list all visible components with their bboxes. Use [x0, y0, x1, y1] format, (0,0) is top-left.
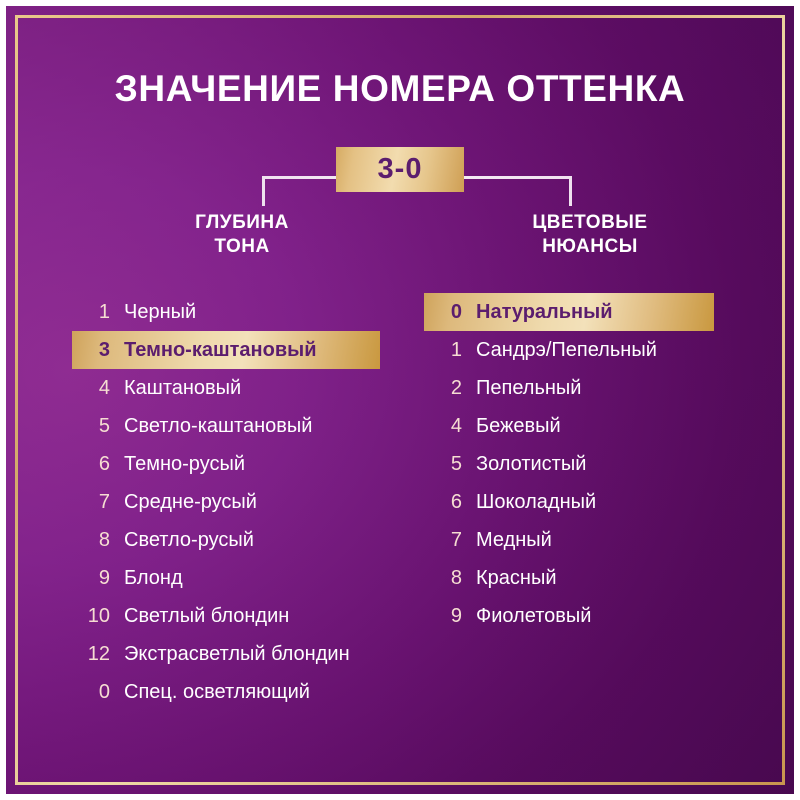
shade-number-infographic: ЗНАЧЕНИЕ НОМЕРА ОТТЕНКА 3-0 ГЛУБИНА ТОНА… — [0, 0, 800, 800]
list-row: 1Сандрэ/Пепельный — [424, 331, 732, 369]
list-row: 1Черный — [72, 293, 402, 331]
list-row-label: Спец. осветляющий — [124, 682, 310, 702]
shade-code-text: 3-0 — [378, 155, 423, 184]
list-row-label: Светло-русый — [124, 530, 254, 550]
list-row-number: 6 — [72, 454, 124, 474]
list-row: 0Спец. осветляющий — [72, 673, 402, 711]
list-row-label: Экстрасветлый блондин — [124, 644, 350, 664]
list-row-number: 9 — [424, 606, 476, 626]
list-row: 9Блонд — [72, 559, 402, 597]
list-row: 7Средне-русый — [72, 483, 402, 521]
poster-content: ЗНАЧЕНИЕ НОМЕРА ОТТЕНКА 3-0 ГЛУБИНА ТОНА… — [0, 0, 800, 800]
list-row: 2Пепельный — [424, 369, 732, 407]
list-row-selected: 0Натуральный — [424, 293, 714, 331]
list-row: 6Темно-русый — [72, 445, 402, 483]
list-row-label: Светлый блондин — [124, 606, 289, 626]
list-row-number: 5 — [72, 416, 124, 436]
list-row-label: Медный — [476, 530, 552, 550]
list-row-number: 6 — [424, 492, 476, 512]
depth-of-tone-list: 1Черный3Темно-каштановый4Каштановый5Свет… — [72, 293, 402, 711]
list-row: 9Фиолетовый — [424, 597, 732, 635]
list-row-number: 2 — [424, 378, 476, 398]
list-row-number: 3 — [72, 340, 124, 360]
list-row-number: 4 — [424, 416, 476, 436]
list-row-number: 0 — [424, 302, 476, 322]
list-row-label: Блонд — [124, 568, 183, 588]
bracket-stem-left — [262, 176, 265, 206]
list-row-label: Светло-каштановый — [124, 416, 312, 436]
list-row-label: Средне-русый — [124, 492, 257, 512]
list-row-label: Красный — [476, 568, 557, 588]
list-row-number: 7 — [424, 530, 476, 550]
list-row: 7Медный — [424, 521, 732, 559]
list-row-label: Темно-каштановый — [124, 340, 317, 360]
list-row: 12Экстрасветлый блондин — [72, 635, 402, 673]
list-row-number: 7 — [72, 492, 124, 512]
list-row: 10Светлый блондин — [72, 597, 402, 635]
list-row-label: Черный — [124, 302, 196, 322]
list-row-number: 0 — [72, 682, 124, 702]
list-row-number: 1 — [424, 340, 476, 360]
list-row-number: 4 — [72, 378, 124, 398]
list-row-number: 8 — [424, 568, 476, 588]
list-row-number: 9 — [72, 568, 124, 588]
list-row: 8Светло-русый — [72, 521, 402, 559]
color-nuances-list: 0Натуральный1Сандрэ/Пепельный2Пепельный4… — [424, 293, 732, 635]
list-row-label: Сандрэ/Пепельный — [476, 340, 657, 360]
list-row: 4Каштановый — [72, 369, 402, 407]
list-row: 8Красный — [424, 559, 732, 597]
list-row: 5Золотистый — [424, 445, 732, 483]
shade-code-badge: 3-0 — [336, 147, 464, 192]
list-row-label: Темно-русый — [124, 454, 245, 474]
list-row-number: 5 — [424, 454, 476, 474]
page-title: ЗНАЧЕНИЕ НОМЕРА ОТТЕНКА — [0, 68, 800, 110]
column-header-depth-of-tone: ГЛУБИНА ТОНА — [132, 211, 352, 260]
list-row-number: 10 — [72, 606, 124, 626]
list-row-label: Золотистый — [476, 454, 586, 474]
list-row-label: Фиолетовый — [476, 606, 591, 626]
bracket-stem-right — [569, 176, 572, 206]
list-row-label: Пепельный — [476, 378, 581, 398]
list-row: 5Светло-каштановый — [72, 407, 402, 445]
list-row-number: 1 — [72, 302, 124, 322]
list-row-label: Каштановый — [124, 378, 241, 398]
list-row-number: 12 — [72, 644, 124, 664]
list-row-label: Натуральный — [476, 302, 613, 322]
list-row: 6Шоколадный — [424, 483, 732, 521]
list-row-label: Бежевый — [476, 416, 561, 436]
list-row-number: 8 — [72, 530, 124, 550]
list-row: 4Бежевый — [424, 407, 732, 445]
list-row-label: Шоколадный — [476, 492, 596, 512]
list-row-selected: 3Темно-каштановый — [72, 331, 380, 369]
column-header-color-nuances: ЦВЕТОВЫЕ НЮАНСЫ — [478, 211, 702, 260]
